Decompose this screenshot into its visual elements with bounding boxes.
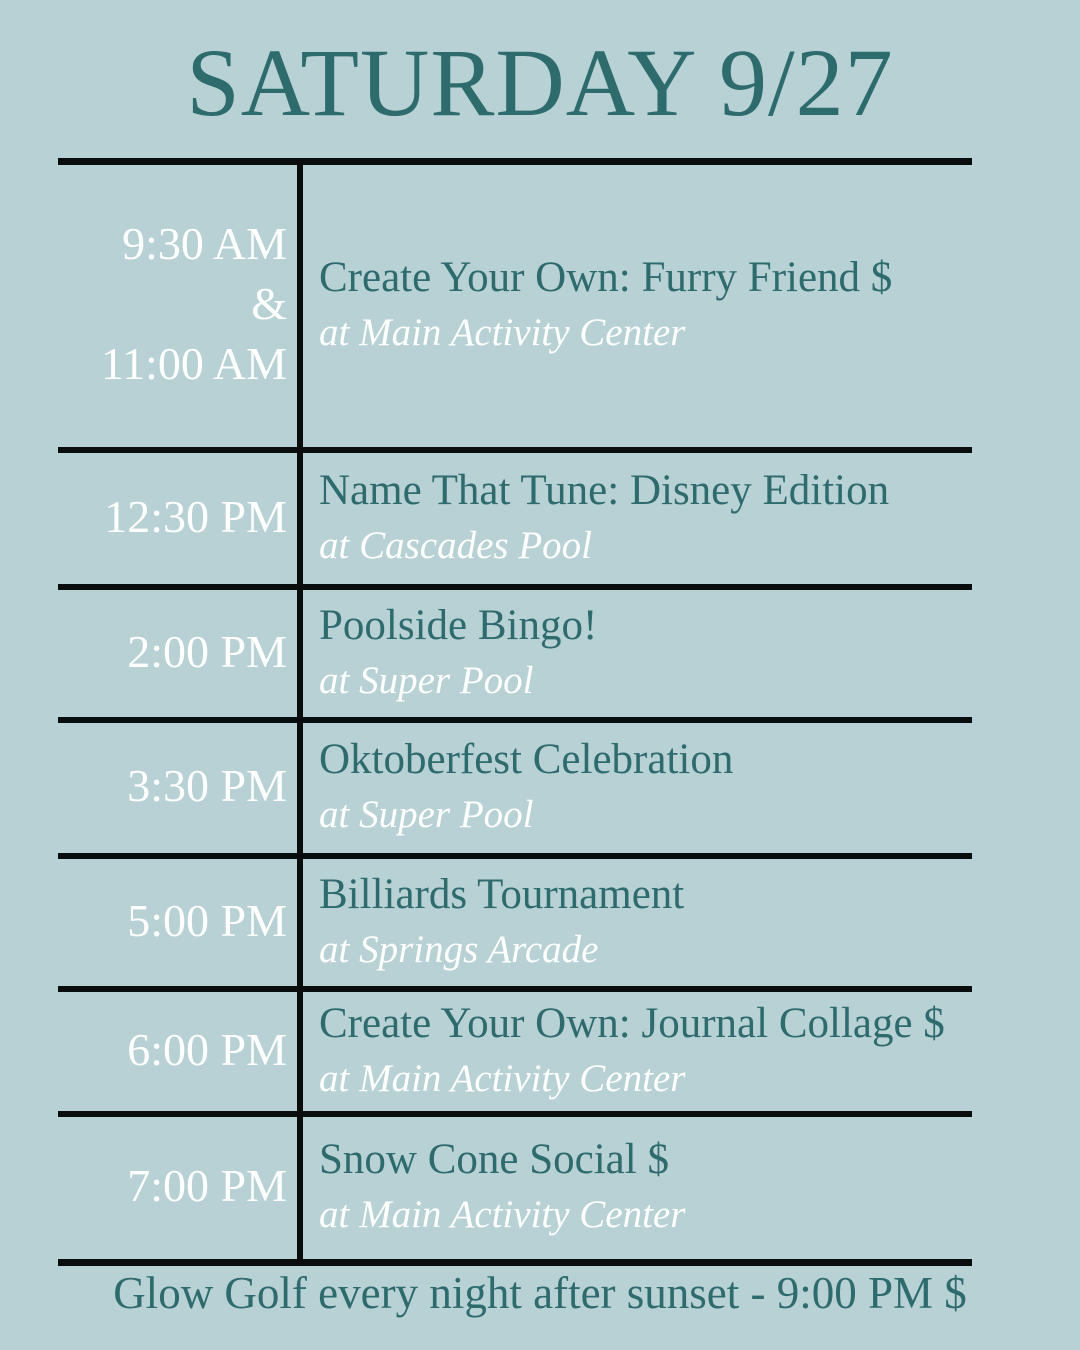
event-cell: Create Your Own: Journal Collage $ at Ma… (303, 992, 972, 1111)
event-location: at Super Pool (319, 654, 968, 708)
time-primary: 9:30 AM (122, 214, 287, 274)
event-cell: Oktoberfest Celebration at Super Pool (303, 723, 972, 853)
event-cell: Name That Tune: Disney Edition at Cascad… (303, 453, 972, 584)
event-location: at Main Activity Center (319, 1188, 968, 1242)
time-cell: 5:00 PM (58, 859, 303, 986)
event-title: Poolside Bingo! (319, 598, 968, 654)
time-cell: 9:30 AM & 11:00 AM (58, 165, 303, 447)
table-row: 3:30 PM Oktoberfest Celebration at Super… (58, 723, 972, 859)
event-cell: Poolside Bingo! at Super Pool (303, 590, 972, 717)
event-location: at Cascades Pool (319, 519, 968, 573)
time-cell: 7:00 PM (58, 1117, 303, 1259)
time-cell: 2:00 PM (58, 590, 303, 717)
time-cell: 6:00 PM (58, 992, 303, 1111)
event-title: Billiards Tournament (319, 867, 968, 923)
table-row: 9:30 AM & 11:00 AM Create Your Own: Furr… (58, 165, 972, 453)
table-row: 7:00 PM Snow Cone Social $ at Main Activ… (58, 1117, 972, 1259)
event-location: at Main Activity Center (319, 1052, 968, 1106)
event-title: Snow Cone Social $ (319, 1132, 968, 1188)
time-primary: 2:00 PM (127, 622, 287, 682)
table-row: 6:00 PM Create Your Own: Journal Collage… (58, 992, 972, 1117)
time-cell: 3:30 PM (58, 723, 303, 853)
event-title: Create Your Own: Journal Collage $ (319, 996, 968, 1052)
event-location: at Main Activity Center (319, 306, 968, 360)
time-primary: 3:30 PM (127, 756, 287, 816)
page-title: SATURDAY 9/27 (0, 28, 1080, 138)
time-primary: 6:00 PM (127, 1020, 287, 1080)
table-row: 5:00 PM Billiards Tournament at Springs … (58, 859, 972, 992)
table-row: 2:00 PM Poolside Bingo! at Super Pool (58, 590, 972, 723)
schedule-table: 9:30 AM & 11:00 AM Create Your Own: Furr… (58, 158, 972, 1266)
time-primary: 5:00 PM (127, 891, 287, 951)
event-cell: Create Your Own: Furry Friend $ at Main … (303, 165, 972, 447)
event-title: Create Your Own: Furry Friend $ (319, 250, 968, 306)
time-primary: 7:00 PM (127, 1156, 287, 1216)
time-secondary: 11:00 AM (101, 334, 287, 394)
time-primary: 12:30 PM (104, 487, 287, 547)
footer-note: Glow Golf every night after sunset - 9:0… (0, 1264, 1080, 1322)
event-location: at Super Pool (319, 788, 968, 842)
event-title: Name That Tune: Disney Edition (319, 463, 968, 519)
schedule-poster: SATURDAY 9/27 9:30 AM & 11:00 AM Create … (0, 0, 1080, 1350)
table-row: 12:30 PM Name That Tune: Disney Edition … (58, 453, 972, 590)
event-cell: Billiards Tournament at Springs Arcade (303, 859, 972, 986)
event-cell: Snow Cone Social $ at Main Activity Cent… (303, 1117, 972, 1259)
time-separator: & (251, 274, 287, 334)
event-title: Oktoberfest Celebration (319, 732, 968, 788)
time-cell: 12:30 PM (58, 453, 303, 584)
event-location: at Springs Arcade (319, 923, 968, 977)
